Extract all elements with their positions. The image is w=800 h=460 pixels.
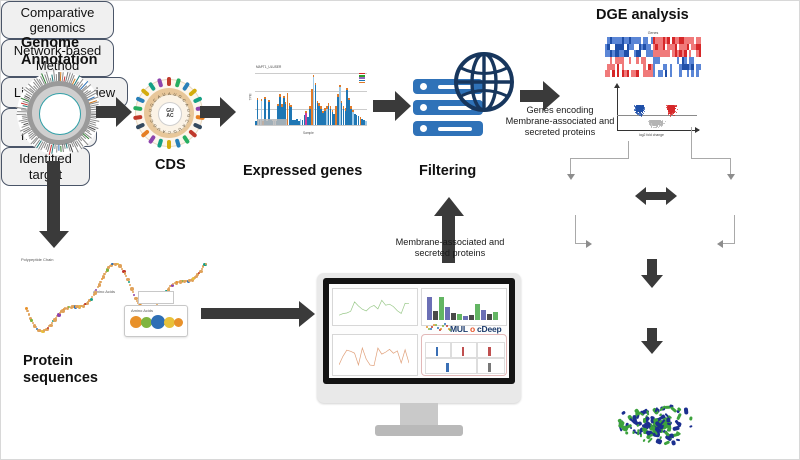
codon-wheel-icon: GU AC AUGCAUGCAUGCAUGCAUGCAU [135,79,203,147]
expr-chart-bar-cap [320,106,322,109]
ribbon-segment [655,438,662,445]
amino-acids-annotation-2: Amino Acids [131,308,153,313]
ribbon-segment [659,436,662,440]
heatmap-cell [699,70,701,77]
expr-chart-xlabel: Sample [303,131,314,135]
volcano-point [677,109,678,110]
expr-chart-ylabel: TPM [248,94,252,101]
dge-heatmap [605,37,701,77]
connector-dge-left-v2 [570,158,571,175]
volcano-plot: log2 fold change [609,83,703,141]
box-comparative-genomics[interactable]: Comparative genomics [1,1,114,39]
volcano-point [671,114,672,115]
volcano-point [658,127,659,128]
volcano-point [655,125,656,126]
volcano-point [639,106,640,107]
comparative-genomics-line2: genomics [21,20,95,35]
volcano-point [655,127,656,128]
expressed-genes-label: Expressed genes [243,163,362,180]
ribbon-segment [677,413,682,420]
connector-dge-right-v2 [730,158,731,175]
ribbon-segment [646,410,650,416]
dge-analysis-label: DGE analysis [596,7,689,24]
amino-acid-residue [199,270,202,273]
volcano-point [651,126,652,127]
expr-chart-bar-cap [305,111,307,114]
globe-icon [453,51,515,113]
amino-acid-residue [94,291,97,294]
expr-chart-bar-cap [268,100,270,103]
ribbon-segment [689,417,692,421]
ribbon-segment [671,440,676,446]
arrow-genome-to-cds [96,97,132,127]
ribbon-segment [670,406,677,413]
genome-annotation-label-line1: Genome [21,35,98,52]
ribbon-segment [685,408,689,415]
genes-encoding-caption: Genes encoding Membrane-associated and s… [501,105,619,138]
connector-comp-to-lit-v [575,215,576,244]
membrane-caption-line1: Membrane-associated and [379,237,521,248]
polypeptide-chain-annotation: Polypeptide Chain [21,257,53,262]
cds-label: CDS [155,157,186,174]
logo-accent-o: o [470,324,475,334]
expr-chart-bar-cap [261,99,263,102]
connector-arrowhead-network [727,174,735,180]
expr-chart-bar-cap [348,98,350,101]
genes-encoding-line1: Genes encoding [501,105,619,116]
workflow-figure: Genome Annotation GU AC AUGCAUGCAUGCAUGC… [0,0,800,460]
volcano-point [673,107,674,108]
expr-chart-bar [365,121,367,125]
volcano-point [669,106,670,107]
expr-chart-bar-cap [313,75,315,78]
amino-acid-residue [106,268,109,271]
monitor-neck [400,403,438,425]
logo-suffix: cDeep [477,324,502,334]
connector-arrowhead-lit-right [717,240,723,248]
desktop-monitor-icon: MUL o cDeep [317,273,521,403]
amino-acid-residue [98,283,101,286]
genome-annotation-label-line2: Annotation [21,52,98,69]
amino-acid-residue [125,275,127,277]
genes-encoding-line3: secreted proteins [501,127,619,138]
arrow-bidirectional-comparative-network [635,187,677,205]
expr-chart-bar-cap [341,101,343,104]
screen-result-tile [425,358,477,374]
protein-structure-ribbon-icon [608,395,700,449]
amino-acid-residue [26,310,28,312]
protein-sequences-line2: sequences [23,370,98,387]
volcano-point [667,109,668,110]
amino-acid-residue [102,275,105,278]
connector-dge-left-v1 [628,141,629,159]
expr-chart-bar-cap [350,106,352,109]
expr-chart-bar-cap [346,88,348,91]
amino-acid-residue [128,281,130,283]
ribbon-segment [689,424,693,427]
ribbon-segment [631,431,634,434]
expressed-genes-chart: MAPT1_ULUSER TPM Sample [241,63,371,141]
expr-chart-bar-cap [328,103,330,106]
monitor-base [375,425,463,436]
ribbon-segment [664,440,671,445]
ribbon-segment [625,432,628,435]
expr-chart-bar-cap [330,106,332,109]
mulocdeep-squiggle-icon [426,323,452,333]
arrow-genome-to-protein [39,161,69,251]
volcano-point [674,115,675,116]
expr-chart-bar-cap [283,96,285,99]
amino-acid-residue [28,313,30,315]
connector-arrowhead-lit-left [586,240,592,248]
arrow-expressed-genes-to-filtering [373,91,413,121]
expr-chart-bar-cap [332,110,334,113]
arrow-literature-to-molecular [641,259,665,289]
expr-chart-bar-cap [279,94,281,97]
cds-center-bottom: AC [166,114,173,119]
volcano-point [656,122,657,123]
connector-dge-right-v1 [691,127,692,159]
amino-acid-residue [129,284,131,286]
volcano-point [665,121,666,122]
expr-chart-bar-cap [352,110,354,113]
connector-dge-right-h [691,158,731,159]
genome-annotation-label: Genome Annotation [21,35,98,68]
connector-arrowhead-comparative [567,174,575,180]
amino-acid-residue [91,296,93,298]
screen-mini-plot [427,296,499,320]
volcano-point [664,123,665,124]
amino-acid-residue [103,273,105,275]
amino-acids-callout: Amino Acids [124,291,186,335]
amino-acid-residue [99,281,101,283]
expr-chart-xtick-block [257,119,287,125]
arrow-protein-to-prediction-tool [201,301,319,327]
volcano-point [672,108,673,109]
protein-sequences-line1: Protein [23,353,98,370]
volcano-point [644,111,645,112]
heatmap-cell [699,44,701,51]
ribbon-segment [621,411,626,416]
amino-acid-residue [201,268,203,270]
heatmap-cell [699,57,701,64]
expr-chart-bar-cap [339,85,341,88]
ribbon-segment [676,439,681,442]
heatmap-cell [699,37,701,44]
volcano-point [661,123,662,124]
expr-chart-bar-cap [287,93,289,96]
volcano-point [676,105,677,106]
connector-dge-left-h [570,158,629,159]
expr-chart-bar-cap [315,83,317,86]
circular-genome-map-icon [17,71,101,155]
comparative-genomics-line1: Comparative [21,5,95,20]
volcano-point [670,116,671,117]
filtering-label: Filtering [419,163,476,180]
connector-net-to-lit-h [723,243,735,244]
screen-mini-plot [339,344,409,370]
ribbon-segment [636,415,640,419]
expr-chart-bar-cap [264,97,266,100]
expr-chart-bar-cap [290,105,292,108]
screen-result-tile [477,342,505,358]
protein-sequences-label: Protein sequences [23,353,98,386]
genes-encoding-line2: Membrane-associated and [501,116,619,127]
volcano-point [658,123,659,124]
ribbon-segment [672,425,679,431]
volcano-xlabel: log2 fold change [639,133,664,137]
volcano-point [653,127,654,128]
expr-chart-title: MAPT1_ULUSER [256,65,281,69]
volcano-point [642,111,643,112]
expr-chart-bar-cap [257,98,259,101]
expr-chart-bar-cap [318,103,320,106]
volcano-point [673,105,674,106]
heatmap-cell [699,64,701,71]
volcano-point [662,124,663,125]
volcano-point [675,108,676,109]
screen-mini-plot [339,296,409,320]
logo-prefix: MUL [450,324,468,334]
membrane-caption-line2: secreted proteins [379,248,521,259]
connector-net-to-lit-v [734,215,735,244]
volcano-point [673,109,674,110]
amino-acid-residue [90,298,93,301]
volcano-point [643,106,644,107]
membrane-proteins-caption: Membrane-associated and secreted protein… [379,237,521,259]
arrow-molecular-to-identified [641,328,665,355]
arrow-cds-to-expressed-genes [200,97,236,127]
volcano-point [676,112,677,113]
ribbon-segment [642,439,646,443]
heatmap-cell [699,50,701,57]
screen-result-tile [425,342,451,358]
volcano-point [661,126,662,127]
amino-acid-residue [49,324,52,327]
screen-result-tile [451,342,477,358]
volcano-point [641,114,642,115]
screen-result-tile [477,358,505,374]
